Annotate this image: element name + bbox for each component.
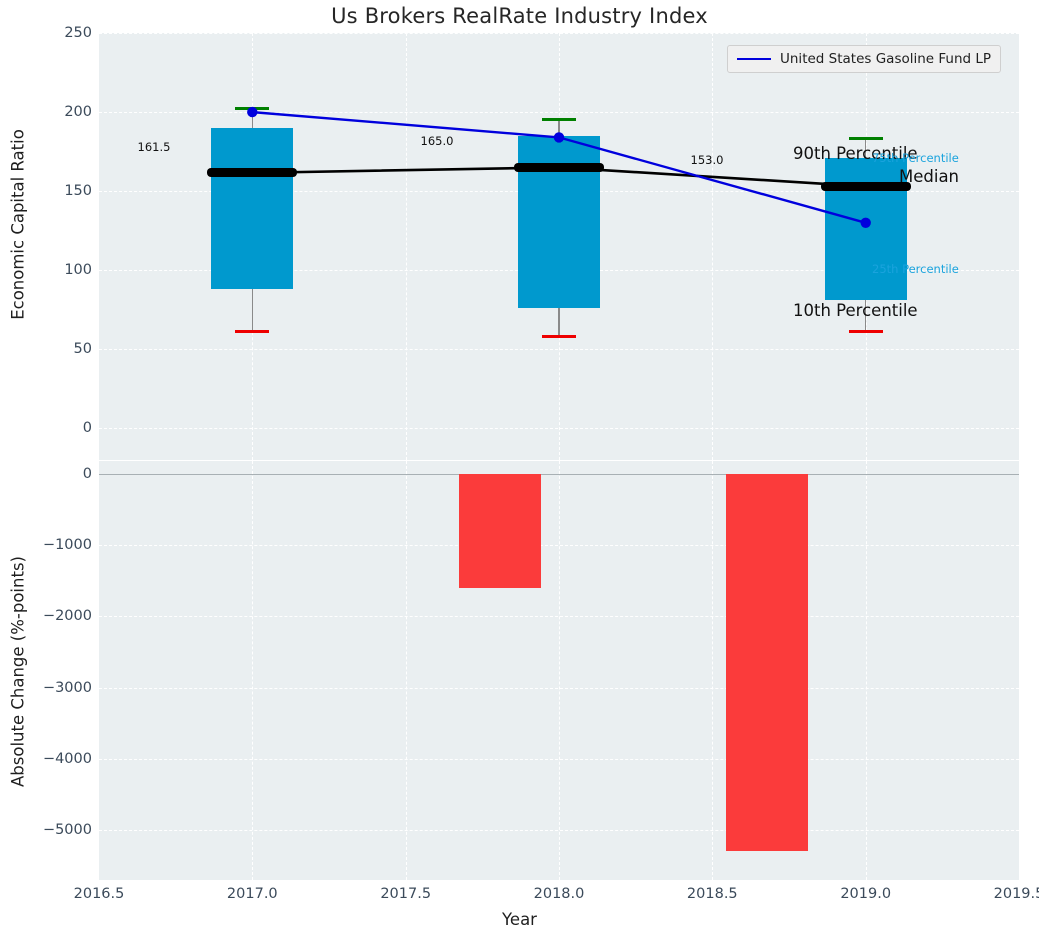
top-panel-plot-area: 161.5 165.0 153.0 90th Percentile 75th P…: [99, 33, 1019, 460]
ytick-bottom-4000: −4000: [43, 751, 92, 767]
xtick-2017-0: 2017.0: [227, 886, 278, 902]
xtick-2018-0: 2018.0: [534, 886, 585, 902]
ytick-top-0: 0: [83, 420, 92, 436]
gridline-bottom-x-2018: [559, 461, 560, 880]
gridline-x-2019-5: [1019, 33, 1020, 460]
y-axis-label-bottom: Absolute Change (%-points): [9, 462, 28, 882]
xtick-2019-0: 2019.0: [840, 886, 891, 902]
gridline-bottom-x-2019: [866, 461, 867, 880]
annotation-25th-percentile: 25th Percentile: [872, 262, 959, 276]
benchmark-line-series: [99, 33, 1019, 460]
median-value-label-2018: 165.0: [421, 134, 454, 148]
annotation-10th-percentile: 10th Percentile: [793, 301, 918, 320]
median-value-label-2019: 153.0: [691, 153, 724, 167]
chart-figure: Us Brokers RealRate Industry Index: [0, 0, 1039, 942]
bottom-panel-plot-area: [99, 461, 1019, 880]
ytick-bottom-3000: −3000: [43, 680, 92, 696]
xtick-2017-5: 2017.5: [380, 886, 431, 902]
x-axis-label: Year: [0, 910, 1039, 929]
ytick-bottom-0: 0: [83, 466, 92, 482]
ytick-top-50: 50: [74, 341, 92, 357]
xtick-2019-5: 2019.5: [994, 886, 1039, 902]
ytick-top-150: 150: [64, 183, 92, 199]
benchmark-point-2017: [247, 107, 257, 117]
ytick-bottom-2000: −2000: [43, 608, 92, 624]
ytick-top-100: 100: [64, 262, 92, 278]
ytick-top-200: 200: [64, 104, 92, 120]
chart-legend[interactable]: United States Gasoline Fund LP: [727, 45, 1001, 73]
chart-title: Us Brokers RealRate Industry Index: [0, 4, 1039, 28]
change-bar-2019: [726, 474, 808, 852]
gridline-bottom-x-2019-5: [1019, 461, 1020, 880]
gridline-bottom-x-2017: [252, 461, 253, 880]
ytick-bottom-1000: −1000: [43, 537, 92, 553]
xtick-2016-5: 2016.5: [74, 886, 125, 902]
ytick-bottom-5000: −5000: [43, 822, 92, 838]
change-bar-2018: [459, 474, 541, 588]
benchmark-point-2018: [554, 132, 564, 142]
annotation-median: Median: [899, 167, 959, 186]
y-axis-label-top: Economic Capital Ratio: [9, 35, 28, 415]
legend-label: United States Gasoline Fund LP: [780, 51, 991, 67]
benchmark-point-2019: [861, 218, 871, 228]
gridline-bottom-x-2017-5: [406, 461, 407, 880]
ytick-top-250: 250: [64, 25, 92, 41]
xtick-2018-5: 2018.5: [687, 886, 738, 902]
median-value-label-2017: 161.5: [138, 140, 171, 154]
gridline-bottom-x-2018-5: [712, 461, 713, 880]
annotation-75th-percentile: 75th Percentile: [872, 151, 959, 165]
legend-line-swatch: [737, 58, 771, 60]
